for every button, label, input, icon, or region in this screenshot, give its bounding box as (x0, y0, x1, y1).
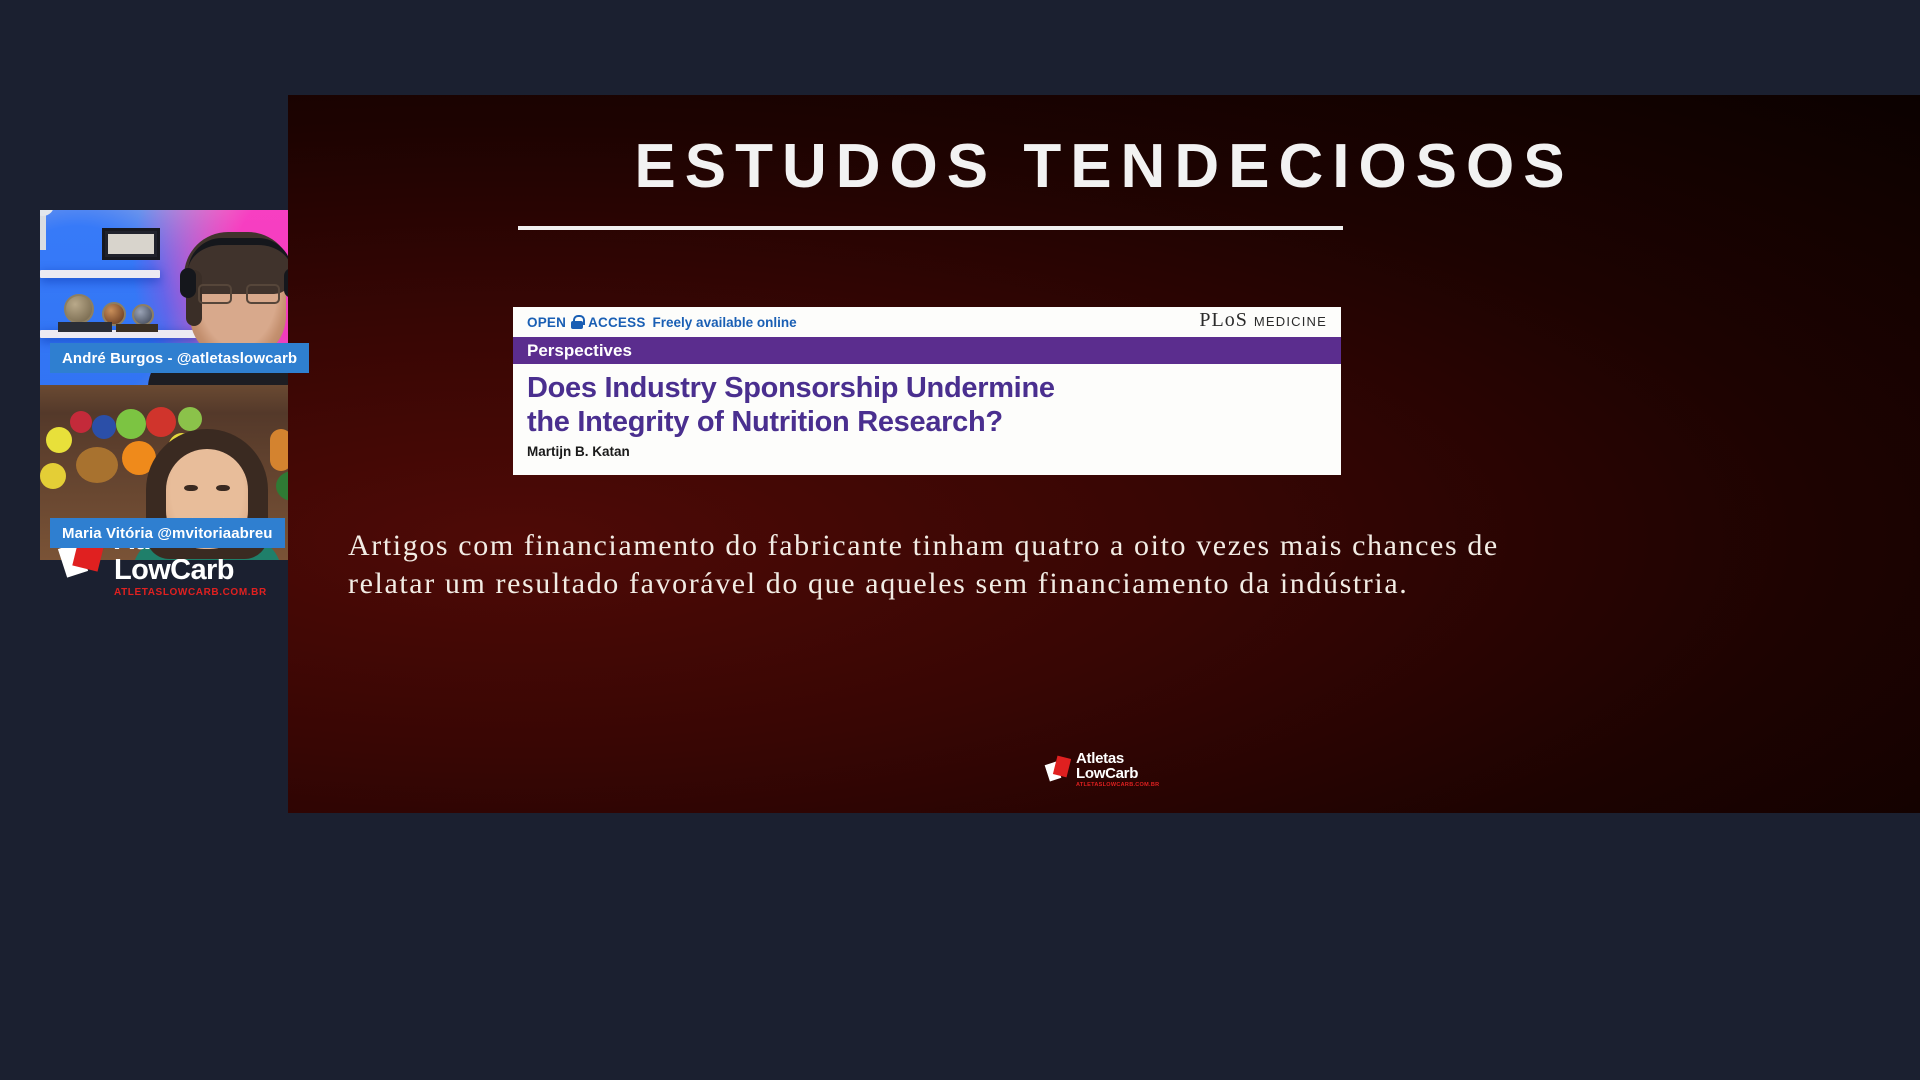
medal-silver (132, 304, 154, 326)
video-call-screen: André Burgos - @atletaslowcarb (0, 0, 1920, 1080)
freely-available-text: Freely available online (653, 315, 797, 330)
eye-left (184, 485, 198, 491)
open-access-badge: OPEN ACCESS (527, 315, 646, 330)
atletas-lowcarb-logo-slide: Atletas LowCarb ATLETASLOWCARB.COM.BR (1046, 751, 1162, 791)
headphone-left-icon (180, 268, 196, 298)
shared-presentation-slide[interactable]: ESTUDOS TENDECIOSOS OPEN ACCESS Freely a… (288, 95, 1920, 813)
open-access-label: OPEN (527, 315, 566, 330)
open-access-label-2: ACCESS (588, 315, 645, 330)
article-author: Martijn B. Katan (513, 440, 1341, 459)
framed-certificate (102, 228, 160, 260)
fruit-pear-green (178, 407, 202, 431)
open-lock-icon (571, 315, 583, 329)
article-section-bar: Perspectives (513, 337, 1341, 364)
logo-url-slide: ATLETASLOWCARB.COM.BR (1076, 782, 1159, 788)
slide-title: ESTUDOS TENDECIOSOS (288, 131, 1920, 202)
trophy (40, 210, 46, 250)
fruit-lemon (46, 427, 72, 453)
plos-section: MEDICINE (1254, 314, 1327, 329)
article-title-line-1: Does Industry Sponsorship Undermine (527, 372, 1327, 406)
medal-gold (64, 294, 94, 324)
bowl-of-nuts (76, 447, 118, 483)
shelf-upper (40, 270, 160, 278)
fruit-berry (70, 411, 92, 433)
eye-right (216, 485, 230, 491)
logo-line-2-slide: LowCarb (1076, 766, 1159, 781)
title-divider (518, 226, 1343, 230)
article-title: Does Industry Sponsorship Undermine the … (513, 364, 1341, 440)
logo-line-1-slide: Atletas (1076, 751, 1159, 766)
plos-wordmark: PLoS (1199, 309, 1247, 332)
fruit-green-apple (116, 409, 146, 439)
fruit-red-apple (146, 407, 176, 437)
fruit-blueberries (92, 415, 116, 439)
award-plaque-secondary (116, 324, 158, 332)
logo-wordmark-slide: Atletas LowCarb ATLETASLOWCARB.COM.BR (1076, 751, 1159, 788)
headphones-band-icon (188, 238, 292, 272)
slide-body-text: Artigos com financiamento do fabricante … (348, 527, 1588, 603)
plos-medicine-logo: PLoS MEDICINE (1199, 309, 1327, 332)
article-section-label: Perspectives (527, 341, 632, 361)
participant-name-label-maria: Maria Vitória @mvitoriaabreu (50, 518, 285, 548)
logo-url: ATLETASLOWCARB.COM.BR (114, 587, 267, 598)
journal-article-clipping: OPEN ACCESS Freely available online PLoS… (513, 307, 1341, 475)
journal-header-row: OPEN ACCESS Freely available online PLoS… (513, 307, 1341, 337)
logo-card-red-slide (1053, 756, 1071, 778)
article-title-line-2: the Integrity of Nutrition Research? (527, 406, 1327, 440)
participant-name-label-andre: André Burgos - @atletaslowcarb (50, 343, 309, 373)
fruit-lemon-2 (40, 463, 66, 489)
logo-mark-icon-slide (1046, 755, 1072, 785)
award-plaque (58, 322, 112, 332)
logo-line-2: LowCarb (114, 555, 267, 585)
eyeglasses-icon (198, 284, 280, 304)
